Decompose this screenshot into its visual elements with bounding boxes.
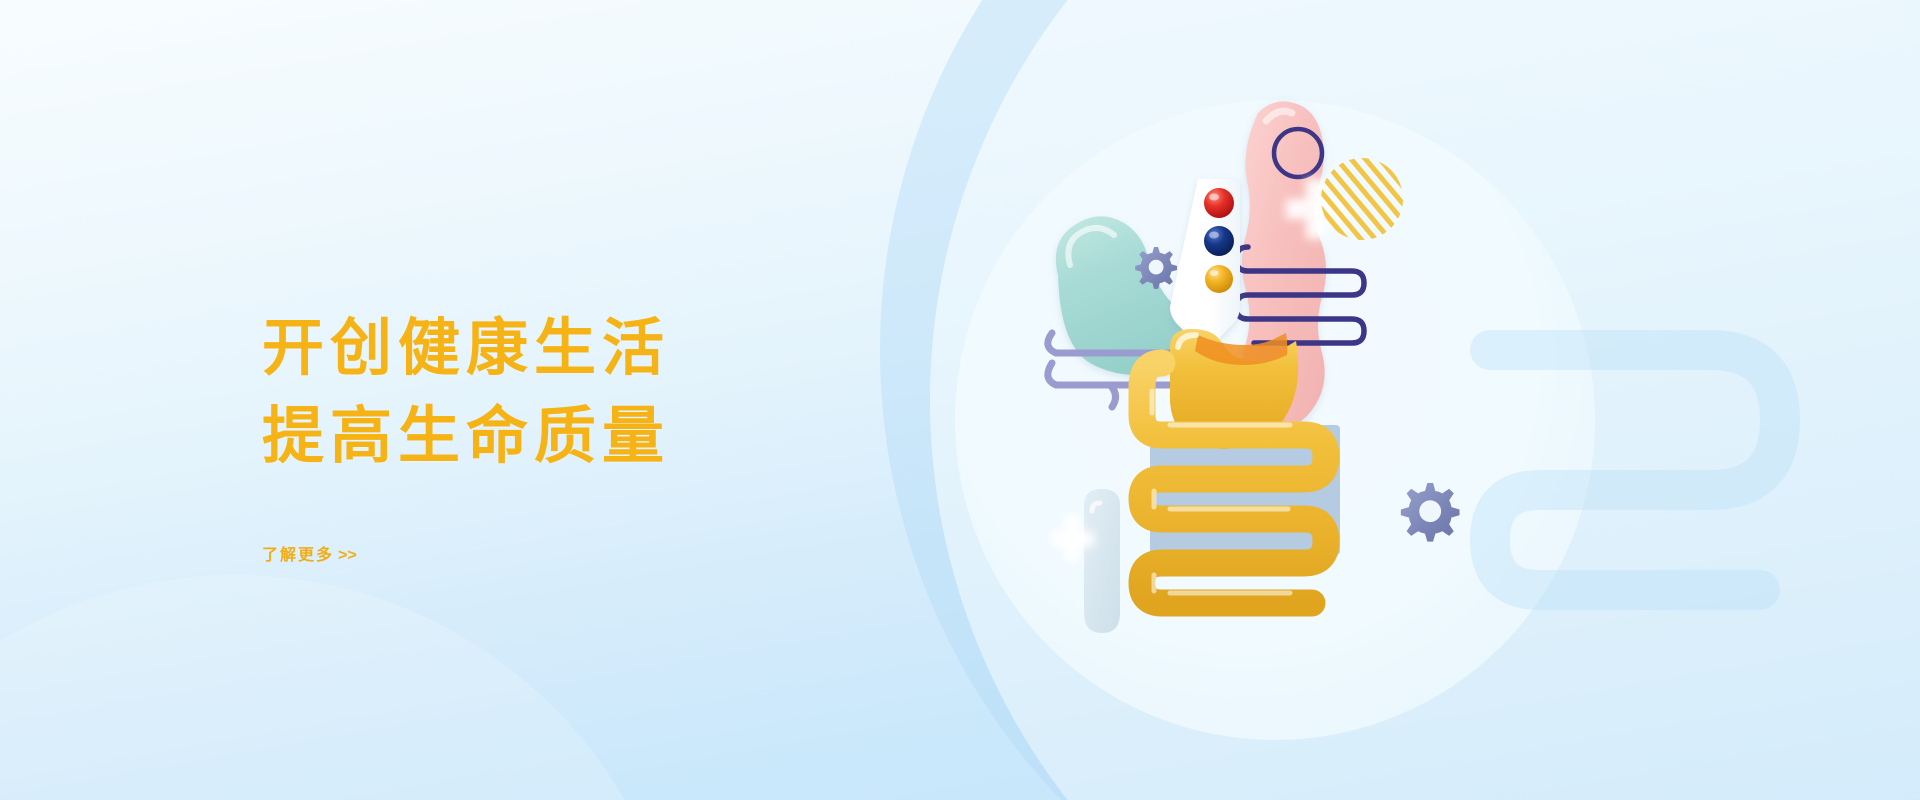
ice-vial (1084, 489, 1120, 633)
chevron-right-icon: >> (338, 547, 357, 564)
headline-line-2: 提高生命质量 (262, 393, 670, 481)
striped-circle (1321, 158, 1403, 240)
headline-line-1: 开创健康生活 (262, 305, 670, 393)
learn-more-label: 了解更多 (262, 547, 334, 564)
pill-navy (1204, 226, 1234, 256)
pill-amber (1205, 265, 1233, 293)
gear-small-icon (1135, 247, 1177, 289)
gear-large-icon (1401, 483, 1460, 542)
hero-copy-block: 开创健康生活 提高生命质量 了解更多>> (262, 305, 670, 565)
pill-red (1204, 188, 1234, 218)
learn-more-link[interactable]: 了解更多>> (262, 541, 357, 565)
digestive-system-illustration (1050, 95, 1570, 715)
health-hero-banner: 开创健康生活 提高生命质量 了解更多>> (0, 0, 1920, 800)
background-circle-bottom-left (0, 575, 685, 800)
